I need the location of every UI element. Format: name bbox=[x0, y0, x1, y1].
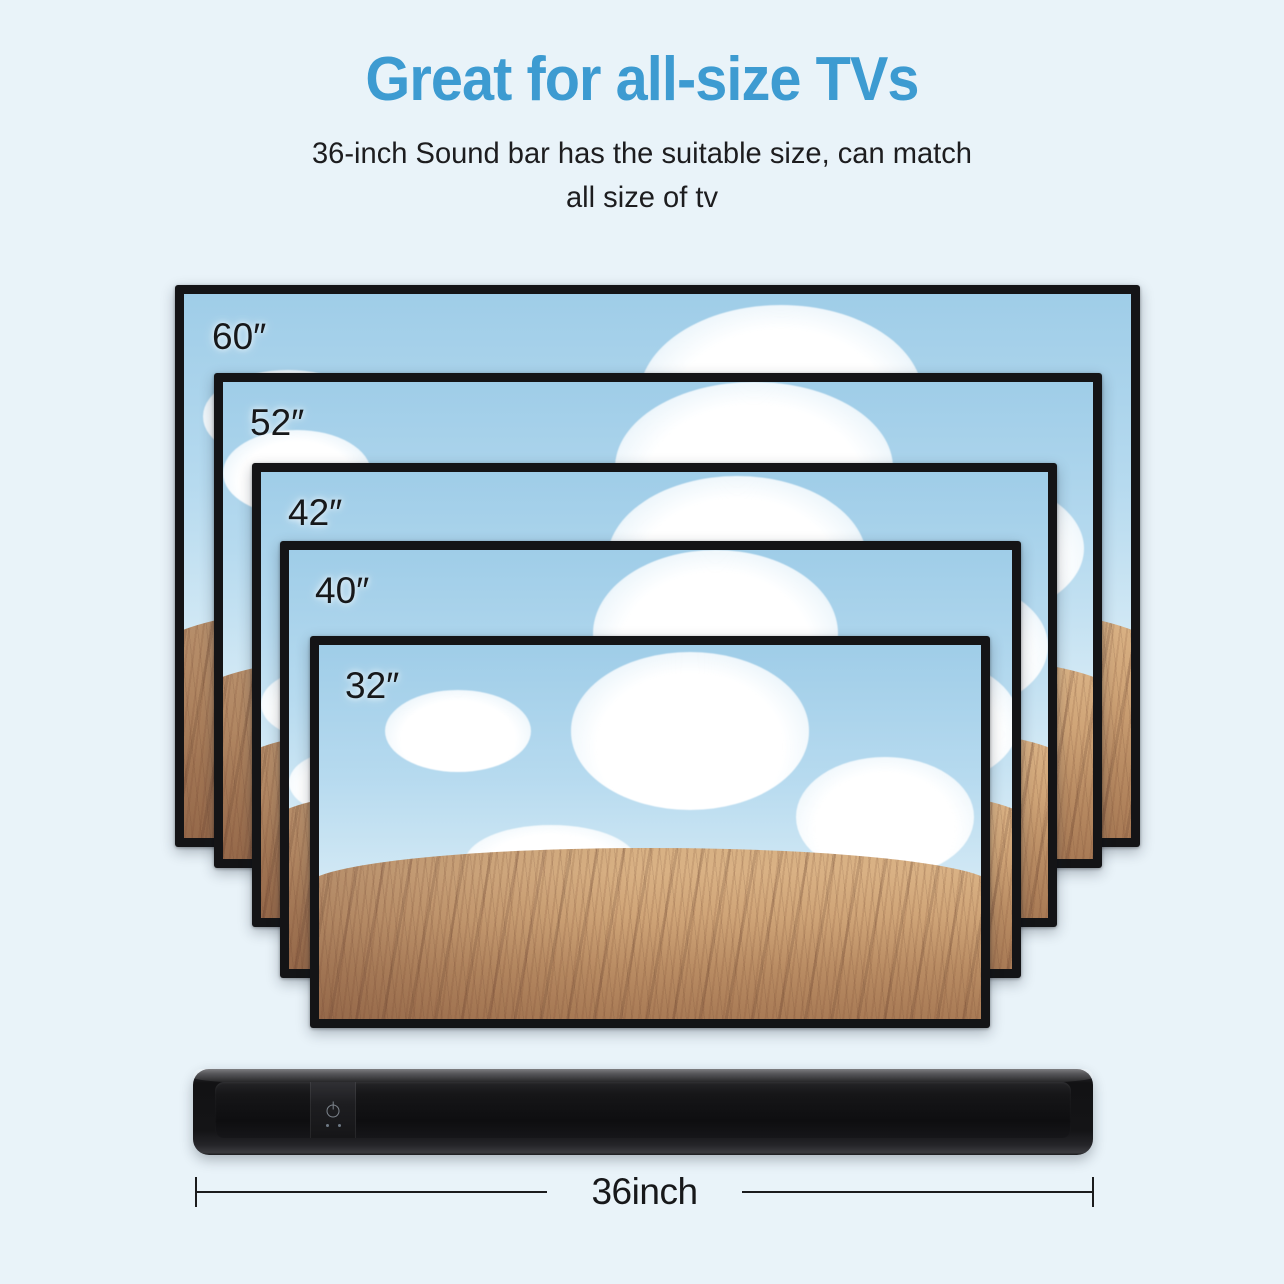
tv-size-label-32: 32″ bbox=[345, 665, 399, 707]
tv-size-label-60: 60″ bbox=[212, 316, 266, 358]
soundbar-speaker-grille bbox=[215, 1082, 1071, 1138]
screen-scene-32 bbox=[319, 645, 981, 1019]
tv-size-label-40: 40″ bbox=[315, 570, 369, 612]
tv-size-label-42: 42″ bbox=[288, 492, 342, 534]
dimension-label: 36inch bbox=[591, 1171, 697, 1213]
tv-size-label-52: 52″ bbox=[250, 402, 304, 444]
wheat-field bbox=[319, 848, 981, 1019]
dimension-line: 36inch bbox=[195, 1191, 1094, 1193]
dimension-line-left bbox=[195, 1191, 547, 1193]
dimension-line-right bbox=[742, 1191, 1094, 1193]
cloud-icon bbox=[571, 652, 809, 809]
indicator-led bbox=[326, 1124, 329, 1127]
power-icon bbox=[327, 1105, 340, 1118]
tv-screen-32: 32″ bbox=[319, 645, 981, 1019]
cloud-icon bbox=[385, 690, 531, 772]
indicator-led bbox=[338, 1124, 341, 1127]
indicator-led-row bbox=[311, 1124, 355, 1127]
tv-frame-32: 32″ bbox=[310, 636, 990, 1028]
soundbar-control-panel bbox=[310, 1082, 356, 1138]
soundbar-product bbox=[193, 1069, 1093, 1155]
